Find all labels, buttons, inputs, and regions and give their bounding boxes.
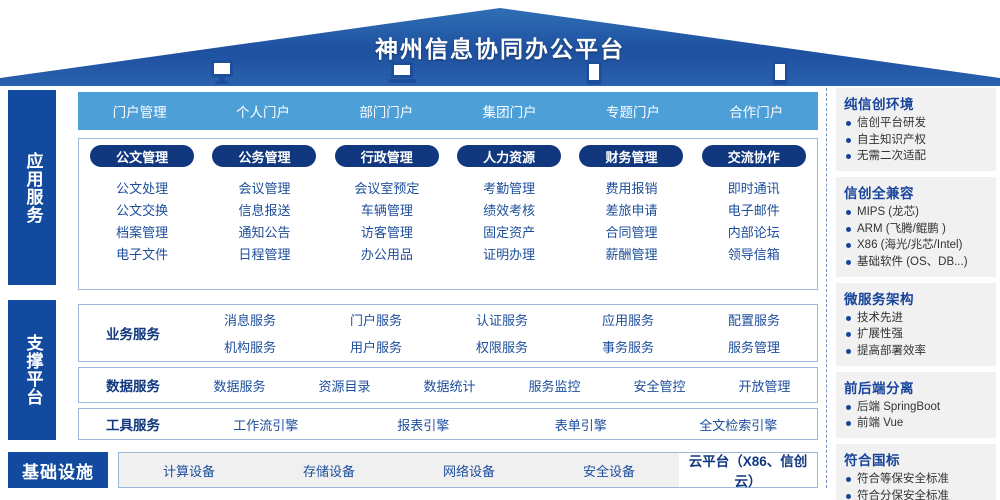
- service-item[interactable]: 服务管理: [691, 337, 817, 356]
- row-title: 工具服务: [79, 414, 187, 434]
- feature-bullet: 信创平台研发: [844, 115, 990, 132]
- cloud-platform-item[interactable]: 云平台（X86、信创云）: [679, 450, 817, 490]
- app-item[interactable]: 即时通讯: [728, 182, 780, 195]
- service-item[interactable]: 门户服务: [313, 310, 439, 329]
- row-title: 业务服务: [79, 323, 187, 343]
- data-services-row: 数据服务 数据服务 资源目录 数据统计 服务监控 安全管控 开放管理: [78, 367, 818, 403]
- feature-bullet: 基础软件 (OS、DB...): [844, 254, 990, 271]
- app-item[interactable]: 合同管理: [605, 226, 657, 239]
- app-item[interactable]: 考勤管理: [483, 182, 535, 195]
- feature-section-title: 符合国标: [844, 449, 990, 469]
- feature-section-microservice: 微服务架构 技术先进 扩展性强 提高部署效率: [836, 283, 996, 366]
- feature-section-pure-xinchuang: 纯信创环境 信创平台研发 自主知识产权 无需二次适配: [836, 88, 996, 171]
- portal-bar: 门户管理 个人门户 部门门户 集团门户 专题门户 合作门户: [78, 92, 818, 130]
- feature-bullet: 无需二次适配: [844, 148, 990, 165]
- platform-title: 神州信息协同办公平台: [0, 30, 1000, 64]
- feature-bullet: 后端 SpringBoot: [844, 399, 990, 416]
- service-item[interactable]: 开放管理: [712, 376, 817, 395]
- feature-bullet: 前端 Vue: [844, 415, 990, 432]
- app-item[interactable]: 公文交换: [116, 204, 168, 217]
- app-item[interactable]: 电子文件: [116, 248, 168, 261]
- service-cell: 消息服务 机构服务: [187, 310, 313, 356]
- portal-item[interactable]: 部门门户: [325, 101, 448, 121]
- service-item[interactable]: 配置服务: [691, 310, 817, 329]
- service-item[interactable]: 认证服务: [439, 310, 565, 329]
- device-icons-strip: [0, 60, 830, 90]
- app-item[interactable]: 会议管理: [238, 182, 290, 195]
- infrastructure-item[interactable]: 存储设备: [259, 461, 399, 480]
- app-column: 人力资源 考勤管理 绩效考核 固定资产 证明办理: [448, 145, 570, 285]
- service-item[interactable]: 表单引擎: [502, 415, 660, 434]
- app-item[interactable]: 档案管理: [116, 226, 168, 239]
- vertical-dashed-divider: [826, 88, 827, 488]
- feature-bullet: 自主知识产权: [844, 132, 990, 149]
- service-item[interactable]: 消息服务: [187, 310, 313, 329]
- desktop-monitor-icon: [210, 59, 234, 90]
- business-services-row: 业务服务 消息服务 机构服务 门户服务 用户服务 认证服务 权限服务 应用服务 …: [78, 304, 818, 362]
- feature-section-title: 微服务架构: [844, 288, 990, 308]
- service-item[interactable]: 应用服务: [565, 310, 691, 329]
- service-item[interactable]: 全文检索引擎: [660, 415, 818, 434]
- app-item[interactable]: 访客管理: [361, 226, 413, 239]
- service-item[interactable]: 安全管控: [607, 376, 712, 395]
- app-item[interactable]: 信息报送: [238, 204, 290, 217]
- feature-section-full-compat: 信创全兼容 MIPS (龙芯) ARM (飞腾/鲲鹏 ) X86 (海光/兆芯/…: [836, 177, 996, 277]
- smartphone-icon: [772, 61, 788, 90]
- app-category-pill[interactable]: 公务管理: [212, 145, 316, 167]
- app-item[interactable]: 内部论坛: [728, 226, 780, 239]
- portal-item[interactable]: 个人门户: [201, 101, 324, 121]
- band-label-infrastructure: 基础设施: [8, 452, 108, 488]
- app-category-pill[interactable]: 财务管理: [579, 145, 683, 167]
- tool-services-row: 工具服务 工作流引擎 报表引擎 表单引擎 全文检索引擎: [78, 408, 818, 440]
- app-category-pill[interactable]: 公文管理: [90, 145, 194, 167]
- app-category-pill[interactable]: 行政管理: [335, 145, 439, 167]
- band-label-support-platform: 支撑平台: [8, 300, 56, 440]
- band-label-application-services: 应用服务: [8, 90, 56, 285]
- architecture-diagram: 神州信息协同办公平台: [0, 0, 1000, 500]
- app-column: 财务管理 费用报销 差旅申请 合同管理 薪酬管理: [570, 145, 692, 285]
- app-column: 行政管理 会议室预定 车辆管理 访客管理 办公用品: [326, 145, 448, 285]
- feature-bullet: MIPS (龙芯): [844, 204, 990, 221]
- app-item[interactable]: 办公用品: [361, 248, 413, 261]
- laptop-icon: [388, 61, 416, 90]
- app-column: 公文管理 公文处理 公文交换 档案管理 电子文件: [81, 145, 203, 285]
- app-item[interactable]: 固定资产: [483, 226, 535, 239]
- feature-section-frontend-backend: 前后端分离 后端 SpringBoot 前端 Vue: [836, 372, 996, 438]
- service-item[interactable]: 机构服务: [187, 337, 313, 356]
- app-item[interactable]: 薪酬管理: [605, 248, 657, 261]
- portal-item[interactable]: 合作门户: [695, 101, 818, 121]
- infrastructure-item[interactable]: 计算设备: [119, 461, 259, 480]
- feature-bullet: 符合等保安全标准: [844, 471, 990, 488]
- app-column: 交流协作 即时通讯 电子邮件 内部论坛 领导信箱: [693, 145, 815, 285]
- feature-bullet: 扩展性强: [844, 326, 990, 343]
- app-item[interactable]: 公文处理: [116, 182, 168, 195]
- service-cell: 应用服务 事务服务: [565, 310, 691, 356]
- feature-bullet: 技术先进: [844, 310, 990, 327]
- app-item[interactable]: 领导信箱: [728, 248, 780, 261]
- app-item[interactable]: 车辆管理: [361, 204, 413, 217]
- feature-sidebar: 纯信创环境 信创平台研发 自主知识产权 无需二次适配 信创全兼容 MIPS (龙…: [836, 88, 996, 500]
- portal-item[interactable]: 专题门户: [571, 101, 694, 121]
- app-item[interactable]: 会议室预定: [354, 182, 419, 195]
- feature-bullet: X86 (海光/兆芯/Intel): [844, 237, 990, 254]
- app-column: 公务管理 会议管理 信息报送 通知公告 日程管理: [203, 145, 325, 285]
- row-title: 数据服务: [79, 375, 187, 395]
- feature-section-title: 纯信创环境: [844, 93, 990, 113]
- infrastructure-item[interactable]: 安全设备: [539, 461, 679, 480]
- service-item[interactable]: 工作流引擎: [187, 415, 345, 434]
- app-category-pill[interactable]: 交流协作: [702, 145, 806, 167]
- feature-bullet: 提高部署效率: [844, 343, 990, 360]
- tablet-icon: [586, 61, 602, 90]
- app-item[interactable]: 电子邮件: [728, 204, 780, 217]
- feature-bullet: 符合分保安全标准: [844, 488, 990, 500]
- service-item[interactable]: 报表引擎: [345, 415, 503, 434]
- service-item[interactable]: 用户服务: [313, 337, 439, 356]
- feature-bullet: ARM (飞腾/鲲鹏 ): [844, 221, 990, 238]
- service-cell: 配置服务 服务管理: [691, 310, 817, 356]
- infrastructure-devices-group: 计算设备 存储设备 网络设备 安全设备: [119, 453, 679, 487]
- service-cell: 认证服务 权限服务: [439, 310, 565, 356]
- infrastructure-item[interactable]: 网络设备: [399, 461, 539, 480]
- app-item[interactable]: 绩效考核: [483, 204, 535, 217]
- service-item[interactable]: 权限服务: [439, 337, 565, 356]
- feature-section-title: 前后端分离: [844, 377, 990, 397]
- application-services-panel: 公文管理 公文处理 公文交换 档案管理 电子文件 公务管理 会议管理 信息报送 …: [78, 138, 818, 290]
- service-cell: 门户服务 用户服务: [313, 310, 439, 356]
- app-item[interactable]: 证明办理: [483, 248, 535, 261]
- service-item[interactable]: 数据服务: [187, 376, 292, 395]
- portal-item[interactable]: 集团门户: [448, 101, 571, 121]
- app-item[interactable]: 差旅申请: [605, 204, 657, 217]
- app-item[interactable]: 费用报销: [605, 182, 657, 195]
- service-item[interactable]: 事务服务: [565, 337, 691, 356]
- feature-section-national-standard: 符合国标 符合等保安全标准 符合分保安全标准: [836, 444, 996, 500]
- service-item[interactable]: 资源目录: [292, 376, 397, 395]
- app-item[interactable]: 日程管理: [238, 248, 290, 261]
- app-item[interactable]: 通知公告: [238, 226, 290, 239]
- service-item[interactable]: 数据统计: [397, 376, 502, 395]
- portal-item[interactable]: 门户管理: [78, 101, 201, 121]
- app-category-pill[interactable]: 人力资源: [457, 145, 561, 167]
- infrastructure-row: 计算设备 存储设备 网络设备 安全设备 云平台（X86、信创云）: [118, 452, 818, 488]
- feature-section-title: 信创全兼容: [844, 182, 990, 202]
- service-item[interactable]: 服务监控: [502, 376, 607, 395]
